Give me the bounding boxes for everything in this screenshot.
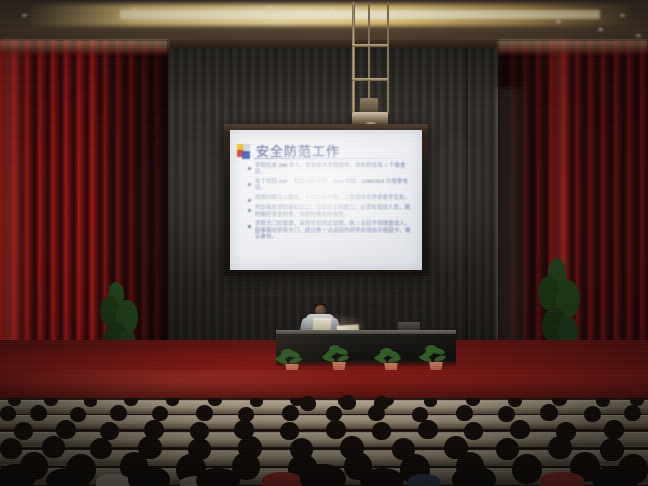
slide-bullet-text: 有了校园 110 、校园 119 电话，1111 内线，22865923 为报警… bbox=[255, 179, 412, 192]
audience-clothing bbox=[262, 472, 302, 486]
auditorium-photo: 安全防范工作 学院在册 200 多人，在省级大专院校中，对外的仅有 2 个宿舍区… bbox=[0, 0, 648, 486]
audience-head bbox=[624, 405, 641, 421]
audience-clothing bbox=[408, 474, 440, 486]
projector-rod bbox=[352, 2, 355, 114]
ceiling-spot-icon bbox=[470, 12, 475, 15]
audience-head bbox=[46, 468, 90, 486]
audience-area bbox=[0, 398, 648, 486]
audience-head bbox=[110, 405, 127, 421]
audience-head bbox=[360, 468, 404, 486]
audience-head bbox=[0, 406, 16, 421]
ceiling-spot-icon bbox=[132, 8, 137, 11]
slide-bullet-list: 学院在册 200 多人，在省级大专院校中，对外的仅有 2 个宿舍区。 有了校园 … bbox=[248, 163, 412, 244]
bullet-marker-icon bbox=[248, 183, 251, 186]
projector-rod bbox=[368, 2, 370, 102]
audience-head bbox=[600, 438, 624, 461]
ceiling-spot-icon bbox=[556, 20, 561, 23]
audience-head bbox=[90, 438, 112, 459]
bullet-marker-icon bbox=[248, 225, 251, 228]
list-item: 学院在册 200 多人，在省级大专院校中，对外的仅有 2 个宿舍区。 bbox=[248, 163, 412, 176]
audience-head bbox=[30, 405, 47, 421]
ceiling-spot-icon bbox=[598, 28, 603, 31]
audience-head bbox=[196, 405, 213, 421]
slide-title-rule bbox=[254, 158, 404, 159]
audience-head bbox=[456, 405, 473, 421]
audience-head bbox=[152, 406, 168, 421]
audience-head bbox=[326, 420, 346, 439]
curtain-highlight bbox=[4, 40, 30, 390]
bullet-marker-icon bbox=[248, 199, 251, 202]
ceiling-spot-icon bbox=[402, 10, 407, 13]
projector-rod bbox=[387, 2, 389, 114]
ceiling-spot-icon bbox=[330, 8, 335, 11]
projector-brace bbox=[352, 44, 388, 47]
audience-head bbox=[592, 466, 638, 486]
list-item: 出现问题马上报告，不得隐瞒不报，上报值班老师或者学生处。 bbox=[248, 195, 412, 202]
ceiling-spot-icon bbox=[22, 14, 27, 17]
audience-head bbox=[464, 422, 483, 440]
audience-head bbox=[280, 422, 299, 440]
ceiling-spot-icon bbox=[268, 6, 273, 9]
ceiling-spot-icon bbox=[620, 14, 625, 17]
audience-head bbox=[548, 436, 572, 459]
audience-head bbox=[374, 396, 389, 410]
projection-screen-frame: 安全防范工作 学院在册 200 多人，在省级大专院校中，对外的仅有 2 个宿舍区… bbox=[224, 124, 428, 276]
audience-head bbox=[418, 420, 438, 439]
audience-head bbox=[584, 406, 601, 422]
slide-bullet-text: 学院在册 200 多人，在省级大专院校中，对外的仅有 2 个宿舍区。 bbox=[255, 163, 412, 176]
bullet-marker-icon bbox=[248, 167, 251, 170]
projection-screen: 安全防范工作 学院在册 200 多人，在省级大专院校中，对外的仅有 2 个宿舍区… bbox=[230, 130, 422, 270]
list-item: 学院大门的管理，采用半封闭式管理，晚 7 点后不得随意出入。因事需出学院大门，超… bbox=[248, 221, 412, 240]
audience-head bbox=[498, 406, 515, 422]
list-item: 有了校园 110 、校园 119 电话，1111 内线，22865923 为报警… bbox=[248, 179, 412, 192]
audience-head bbox=[326, 406, 342, 421]
audience-head bbox=[70, 407, 86, 422]
audience-head bbox=[496, 438, 519, 460]
curtain-valance-right bbox=[498, 40, 648, 54]
audience-head bbox=[340, 395, 356, 410]
audience-head bbox=[372, 422, 391, 440]
list-item: 列出每处消防器材出口，划定安全疏散口。必须有值班人员，随时做好安全检查，出现险情… bbox=[248, 205, 412, 218]
audience-head bbox=[512, 454, 542, 484]
audience-clothing bbox=[96, 474, 130, 486]
audience-head bbox=[0, 464, 36, 486]
audience-head bbox=[0, 438, 22, 459]
audience-head bbox=[14, 422, 33, 440]
audience-head bbox=[300, 464, 346, 486]
audience-head bbox=[604, 420, 624, 439]
curtain-valance-left bbox=[0, 40, 168, 54]
presentation-slide: 安全防范工作 学院在册 200 多人，在省级大专院校中，对外的仅有 2 个宿舍区… bbox=[230, 130, 422, 270]
audience-head bbox=[128, 466, 170, 486]
audience-head bbox=[510, 420, 530, 439]
audience-head bbox=[452, 466, 496, 486]
audience-head bbox=[540, 404, 558, 421]
slide-decoration-squares-icon bbox=[237, 144, 252, 159]
audience-head bbox=[196, 468, 240, 486]
slide-bullet-text: 出现问题马上报告，不得隐瞒不报，上报值班老师或者学生处。 bbox=[255, 195, 410, 202]
bullet-marker-icon bbox=[248, 209, 251, 212]
cove-light-core bbox=[120, 10, 600, 19]
audience-head bbox=[56, 420, 76, 439]
audience-clothing bbox=[540, 472, 584, 486]
audience-head bbox=[300, 396, 316, 411]
slide-bullet-text: 学院大门的管理，采用半封闭式管理，晚 7 点后不得随意出入。因事需出学院大门，超… bbox=[255, 221, 412, 240]
ceiling-spot-icon bbox=[636, 34, 641, 37]
slide-bullet-text: 列出每处消防器材出口，划定安全疏散口。必须有值班人员，随时做好安全检查，出现险情… bbox=[255, 205, 412, 218]
audience-head bbox=[42, 436, 65, 458]
projector-brace bbox=[352, 78, 388, 81]
audience-head bbox=[282, 405, 299, 421]
